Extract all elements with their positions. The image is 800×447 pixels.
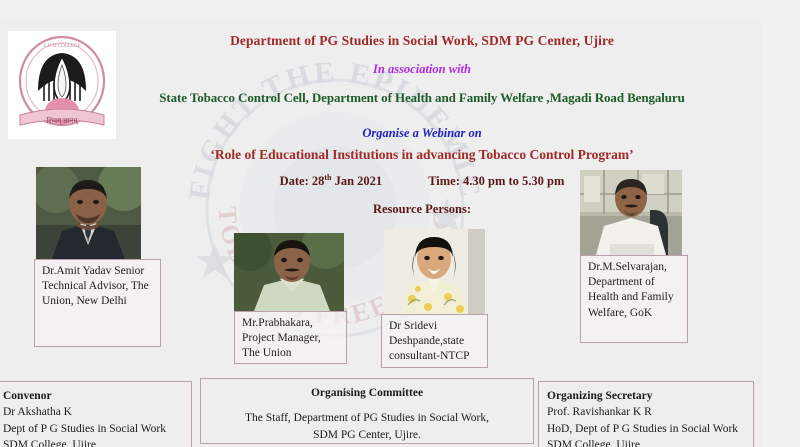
webinar-title: ‘Role of Educational Institutions in adv… [118,148,726,163]
secretary-dept: HoD, Dept of P G Studies in Social Work [547,421,745,437]
secretary-name: Prof. Ravishankar K R [547,404,745,420]
in-association-with: In association with [118,63,726,77]
partner-organisation: State Tobacco Control Cell, Department o… [118,91,726,105]
date-year: Jan 2021 [331,174,382,188]
secretary-title: Organizing Secretary [547,390,653,402]
organising-committee-title: Organising Committee [209,385,525,401]
organise-webinar-line: Organise a Webinar on [118,127,726,141]
photo-dr-amit-yadav [36,167,141,259]
svg-text:शिवम् ज्ञानम्: शिवम् ज्ञानम् [47,116,79,125]
convenor-dept: Dept of P G Studies in Social Work [3,421,183,437]
organising-committee-box: Organising Committee The Staff, Departme… [200,378,534,444]
resource-person-caption: Dr.Amit Yadav Senior Technical Advisor, … [34,259,161,347]
photo-dr-m-selvarajan [580,170,682,255]
organising-committee-line2: SDM PG Center, Ujire. [209,427,525,443]
webinar-poster: FIGHT THE EPIDEMIC TOBACCO FREE LIVING [0,0,800,447]
time-label: Time: 4.30 pm to 5.30 pm [428,174,564,188]
convenor-title: Convenor [3,390,52,402]
resource-person-caption: Dr Sridevi Deshpande,state consultant-NT… [381,314,488,368]
svg-text:S D M COLLEGE: S D M COLLEGE [43,44,80,49]
organizing-secretary-box: Organizing Secretary Prof. Ravishankar K… [538,381,754,447]
convenor-name: Dr Akshatha K [3,404,183,420]
organising-committee-line1: The Staff, Department of PG Studies in S… [209,410,525,426]
emblem-icon: शिवम् ज्ञानम् S D M COLLEGE [8,31,116,139]
date-label: Date: 28 [280,174,325,188]
resource-person-card: Dr.M.Selvarajan, Department of Health an… [580,170,688,343]
resource-person-caption: Mr.Prabhakara, Project Manager, The Unio… [234,311,347,364]
sdm-college-logo: शिवम् ज्ञानम् S D M COLLEGE [8,31,116,139]
poster-department-line: Department of PG Studies in Social Work,… [118,34,726,49]
convenor-college: SDM College, Ujire [3,437,183,447]
resource-person-caption: Dr.M.Selvarajan, Department of Health an… [580,255,688,343]
resource-person-card: Dr Sridevi Deshpande,state consultant-NT… [381,229,488,368]
resource-person-card: Mr.Prabhakara, Project Manager, The Unio… [234,233,347,364]
secretary-college: SDM College, Ujire [547,437,745,447]
photo-dr-sridevi-deshpande [384,229,485,314]
resource-person-card: Dr.Amit Yadav Senior Technical Advisor, … [34,167,161,347]
photo-mr-prabhakara [234,233,344,311]
convenor-box: Convenor Dr Akshatha K Dept of P G Studi… [0,381,192,447]
